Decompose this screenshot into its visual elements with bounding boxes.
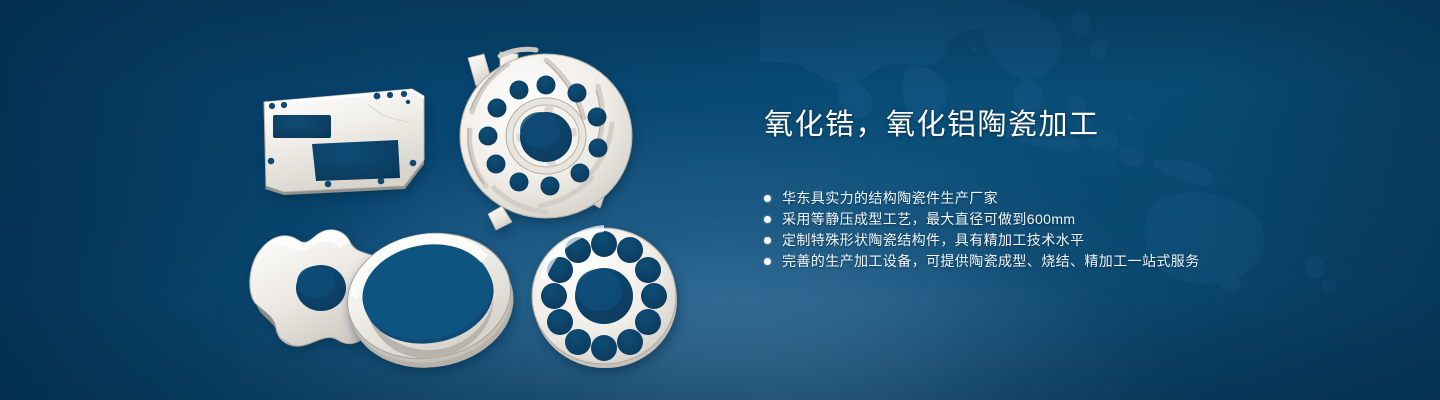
bullet-dot-icon	[764, 216, 771, 223]
ceramic-perforated-disc	[532, 225, 677, 368]
ceramic-mounting-plate	[264, 89, 424, 195]
bullet-dot-icon	[764, 258, 771, 265]
product-hero-banner: 氧化锆，氧化铝陶瓷加工 华东具实力的结构陶瓷件生产厂家 采用等静压成型工艺，最大…	[0, 0, 1440, 400]
banner-copy: 氧化锆，氧化铝陶瓷加工 华东具实力的结构陶瓷件生产厂家 采用等静压成型工艺，最大…	[764, 108, 1364, 272]
list-item-label: 采用等静压成型工艺，最大直径可做到600mm	[782, 209, 1075, 230]
ceramic-products-image	[0, 0, 760, 400]
feature-list: 华东具实力的结构陶瓷件生产厂家 采用等静压成型工艺，最大直径可做到600mm 定…	[764, 188, 1364, 272]
list-item: 定制特殊形状陶瓷结构件，具有精加工技术水平	[764, 230, 1364, 251]
list-item: 完善的生产加工设备，可提供陶瓷成型、烧结、精加工一站式服务	[764, 251, 1364, 272]
list-item: 采用等静压成型工艺，最大直径可做到600mm	[764, 209, 1364, 230]
list-item: 华东具实力的结构陶瓷件生产厂家	[764, 188, 1364, 209]
page-title: 氧化锆，氧化铝陶瓷加工	[764, 108, 1364, 143]
ceramic-impeller-disc	[460, 49, 632, 230]
list-item-label: 华东具实力的结构陶瓷件生产厂家	[782, 188, 998, 209]
bullet-dot-icon	[764, 237, 771, 244]
ceramic-ring	[337, 221, 523, 381]
list-item-label: 定制特殊形状陶瓷结构件，具有精加工技术水平	[782, 230, 1084, 251]
list-item-label: 完善的生产加工设备，可提供陶瓷成型、烧结、精加工一站式服务	[782, 251, 1200, 272]
bullet-dot-icon	[764, 195, 771, 202]
